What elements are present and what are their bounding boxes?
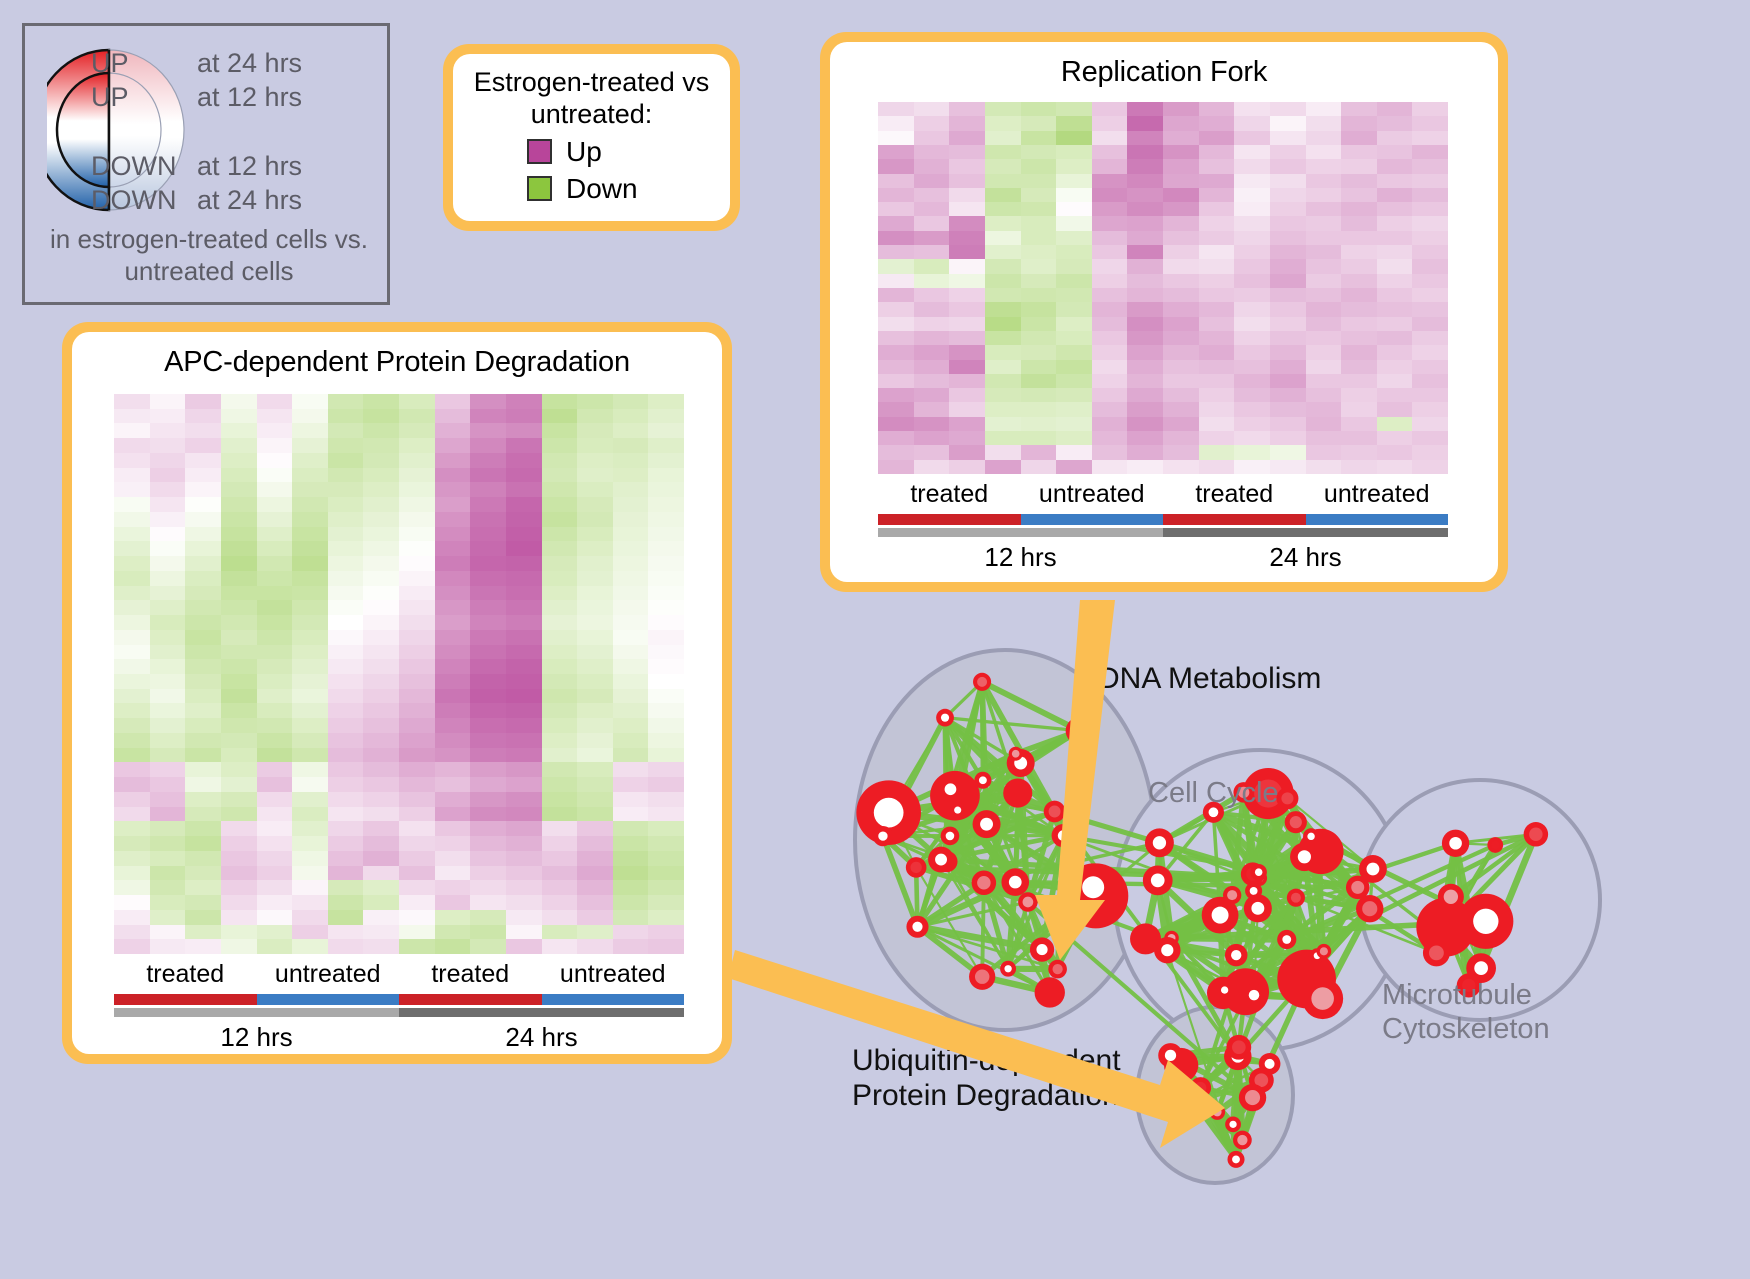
- heatmap-cell: [470, 615, 506, 630]
- heatmap-cell: [506, 733, 542, 748]
- heatmap-cell: [1163, 331, 1199, 345]
- heatmap-cell: [1021, 288, 1057, 302]
- key-row-up: Up: [527, 136, 730, 168]
- heatmap-cell: [399, 777, 435, 792]
- cluster-label-cell-cycle: Cell Cycle: [1148, 777, 1279, 810]
- heatmap-cell: [506, 409, 542, 424]
- heatmap-cell: [1234, 302, 1270, 316]
- heatmap-cell: [1234, 417, 1270, 431]
- heatmap-cell: [1270, 131, 1306, 145]
- heatmap-cell: [949, 460, 985, 474]
- heatmap-cell: [185, 762, 221, 777]
- heatmap-cell: [1056, 274, 1092, 288]
- heatmap-cell: [613, 703, 649, 718]
- heatmap-cell: [1127, 445, 1163, 459]
- heatmap-cell: [221, 939, 257, 954]
- heatmap-cell: [1341, 317, 1377, 331]
- network-node-center: [946, 832, 955, 841]
- heatmap-cell: [613, 821, 649, 836]
- heatmap-cell: [328, 880, 364, 895]
- heatmap-cell: [328, 807, 364, 822]
- heatmap-cell: [1127, 302, 1163, 316]
- heatmap-cell: [542, 468, 578, 483]
- heatmap-cell: [613, 939, 649, 954]
- heatmap-cell: [257, 895, 293, 910]
- heatmap-cell: [435, 645, 471, 660]
- heatmap-cell: [1163, 174, 1199, 188]
- heatmap-cell: [878, 231, 914, 245]
- heatmap-cell: [577, 807, 613, 822]
- heatmap-cell: [613, 689, 649, 704]
- heatmap-cell: [1021, 460, 1057, 474]
- heatmap-cell: [613, 556, 649, 571]
- heatmap-cell: [542, 689, 578, 704]
- heatmap-cell: [878, 317, 914, 331]
- heatmap-cell: [435, 807, 471, 822]
- heatmap-cell: [1341, 131, 1377, 145]
- network-node-center: [979, 776, 987, 784]
- heatmap-cell: [328, 571, 364, 586]
- heatmap-cell: [613, 409, 649, 424]
- heatmap-cell: [1163, 202, 1199, 216]
- heatmap-cell: [577, 468, 613, 483]
- heatmap-cell: [150, 615, 186, 630]
- heatmap-cell: [1127, 274, 1163, 288]
- heatmap-cell: [577, 895, 613, 910]
- heatmap-cell: [257, 409, 293, 424]
- heatmap-cell: [185, 394, 221, 409]
- heatmap-cell: [613, 541, 649, 556]
- heatmap-cell: [399, 586, 435, 601]
- network-node-center: [1245, 1090, 1260, 1105]
- heatmap-cell: [985, 388, 1021, 402]
- heatmap-cell: [114, 630, 150, 645]
- heatmap-cell: [435, 689, 471, 704]
- treatment-color-bar-segment: [1306, 514, 1449, 525]
- heatmap-cell: [221, 497, 257, 512]
- heatmap-cell: [985, 188, 1021, 202]
- heatmap-cell: [1377, 317, 1413, 331]
- heatmap-cell: [470, 939, 506, 954]
- heatmap-cell: [577, 482, 613, 497]
- heatmap-cell: [1341, 102, 1377, 116]
- heatmap-cell: [185, 556, 221, 571]
- heatmap-cell: [949, 417, 985, 431]
- heatmap-cell: [150, 438, 186, 453]
- heatmap-cell: [399, 807, 435, 822]
- heatmap-cell: [542, 586, 578, 601]
- heatmap-cell: [1306, 331, 1342, 345]
- heatmap-cell: [1163, 116, 1199, 130]
- heatmap-cell: [506, 600, 542, 615]
- heatmap-cell: [150, 792, 186, 807]
- heatmap-cell: [328, 777, 364, 792]
- heatmap-cell: [1412, 131, 1448, 145]
- heatmap-cell: [878, 445, 914, 459]
- heatmap-cell: [114, 615, 150, 630]
- heatmap-cell: [506, 630, 542, 645]
- heatmap-cell: [363, 571, 399, 586]
- network-node-center: [1351, 881, 1364, 894]
- heatmap-cell: [221, 571, 257, 586]
- heatmap-cell: [470, 925, 506, 940]
- heatmap-cell: [1021, 174, 1057, 188]
- heatmap-cell: [1341, 259, 1377, 273]
- heatmap-cell: [914, 131, 950, 145]
- heatmap-cell: [1163, 360, 1199, 374]
- heatmap-cell: [221, 733, 257, 748]
- network-node-center: [912, 922, 922, 932]
- heatmap-cell: [1021, 402, 1057, 416]
- heatmap-cell: [257, 689, 293, 704]
- heatmap-cell: [150, 645, 186, 660]
- apc-degradation-panel: APC-dependent Protein Degradation treate…: [62, 322, 732, 1064]
- network-node-center: [1213, 1108, 1222, 1117]
- heatmap-cell: [542, 851, 578, 866]
- heatmap-cell: [648, 394, 684, 409]
- heatmap-cell: [613, 497, 649, 512]
- heatmap-cell: [114, 689, 150, 704]
- heatmap-cell: [914, 431, 950, 445]
- network-node-center: [1250, 887, 1258, 895]
- heatmap-cell: [1199, 145, 1235, 159]
- network-node-center: [878, 831, 887, 840]
- heatmap-cell: [257, 836, 293, 851]
- heatmap-cell: [1021, 445, 1057, 459]
- heatmap-cell: [577, 689, 613, 704]
- heatmap-cell: [949, 360, 985, 374]
- heatmap-cell: [470, 394, 506, 409]
- heatmap-cell: [1234, 388, 1270, 402]
- heatmap-cell: [150, 527, 186, 542]
- heatmap-cell: [1377, 360, 1413, 374]
- heatmap-cell: [114, 409, 150, 424]
- heatmap-cell: [1127, 216, 1163, 230]
- heatmap-cell: [1377, 388, 1413, 402]
- heatmap-cell: [1412, 402, 1448, 416]
- time-label: 12 hrs: [114, 1022, 399, 1053]
- column-group-label: treated: [878, 480, 1021, 509]
- heatmap-cell: [257, 792, 293, 807]
- heatmap-cell: [1021, 231, 1057, 245]
- heatmap-cell: [1092, 259, 1128, 273]
- heatmap-cell: [1412, 317, 1448, 331]
- heatmap-cell: [1127, 388, 1163, 402]
- heatmap-cell: [1199, 245, 1235, 259]
- heatmap-cell: [257, 733, 293, 748]
- heatmap-cell: [114, 586, 150, 601]
- heatmap-cell: [1270, 345, 1306, 359]
- heatmap-cell: [257, 851, 293, 866]
- heatmap-cell: [1234, 431, 1270, 445]
- heatmap-cell: [435, 438, 471, 453]
- heatmap-cell: [221, 895, 257, 910]
- heatmap-cell: [648, 482, 684, 497]
- heatmap-cell: [1163, 188, 1199, 202]
- heatmap-cell: [435, 718, 471, 733]
- heatmap-cell: [949, 445, 985, 459]
- network-node-center: [1227, 890, 1237, 900]
- heatmap-cell: [1412, 445, 1448, 459]
- heatmap-cell: [435, 453, 471, 468]
- heatmap-cell: [257, 630, 293, 645]
- heatmap-cell: [542, 880, 578, 895]
- heatmap-cell: [985, 317, 1021, 331]
- network-node-center: [1049, 806, 1061, 818]
- heatmap-cell: [185, 615, 221, 630]
- heatmap-cell: [1163, 274, 1199, 288]
- heatmap-cell: [1341, 231, 1377, 245]
- heatmap-cell: [470, 527, 506, 542]
- heatmap-cell: [363, 645, 399, 660]
- heatmap-cell: [613, 733, 649, 748]
- heatmap-cell: [1234, 317, 1270, 331]
- heatmap-cell: [150, 409, 186, 424]
- heatmap-cell: [1127, 245, 1163, 259]
- heatmap-cell: [613, 527, 649, 542]
- network-node[interactable]: [1003, 779, 1032, 808]
- heatmap-cell: [185, 821, 221, 836]
- network-node[interactable]: [1035, 977, 1065, 1007]
- heatmap-cell: [1270, 317, 1306, 331]
- heatmap-cell: [114, 851, 150, 866]
- heatmap-cell: [221, 527, 257, 542]
- heatmap-cell: [470, 777, 506, 792]
- heatmap-cell: [1056, 145, 1092, 159]
- heatmap-cell: [577, 630, 613, 645]
- network-node-center: [1473, 909, 1498, 934]
- heatmap-cell: [435, 821, 471, 836]
- heatmap-cell: [114, 807, 150, 822]
- heatmap-cell: [257, 880, 293, 895]
- network-node-center: [1232, 1040, 1246, 1054]
- heatmap-cell: [435, 836, 471, 851]
- heatmap-cell: [399, 689, 435, 704]
- heatmap-cell: [1092, 159, 1128, 173]
- heatmap-cell: [328, 556, 364, 571]
- heatmap-cell: [185, 925, 221, 940]
- heatmap-cell: [1021, 388, 1057, 402]
- heatmap-cell: [363, 438, 399, 453]
- heatmap-cell: [1092, 431, 1128, 445]
- heatmap-cell: [1234, 374, 1270, 388]
- network-node-center: [1229, 1121, 1236, 1128]
- heatmap-cell: [257, 527, 293, 542]
- heatmap-cell: [914, 102, 950, 116]
- heatmap-cell: [185, 910, 221, 925]
- heatmap-cell: [1306, 245, 1342, 259]
- heatmap-cell: [1021, 431, 1057, 445]
- heatmap-cell: [185, 645, 221, 660]
- heatmap-cell: [613, 925, 649, 940]
- replication-fork-heatmap: [878, 102, 1448, 474]
- heatmap-cell: [648, 571, 684, 586]
- heatmap-cell: [914, 245, 950, 259]
- heatmap-cell: [399, 792, 435, 807]
- heatmap-cell: [185, 836, 221, 851]
- heatmap-cell: [1341, 331, 1377, 345]
- heatmap-cell: [648, 718, 684, 733]
- heatmap-cell: [542, 777, 578, 792]
- heatmap-cell: [542, 615, 578, 630]
- heatmap-cell: [914, 202, 950, 216]
- heatmap-cell: [470, 645, 506, 660]
- heatmap-cell: [435, 409, 471, 424]
- heatmap-cell: [1234, 360, 1270, 374]
- heatmap-cell: [292, 394, 328, 409]
- heatmap-cell: [985, 345, 1021, 359]
- heatmap-cell: [648, 615, 684, 630]
- heatmap-cell: [435, 600, 471, 615]
- heatmap-cell: [257, 777, 293, 792]
- heatmap-cell: [1199, 445, 1235, 459]
- heatmap-cell: [399, 762, 435, 777]
- heatmap-cell: [1199, 102, 1235, 116]
- heatmap-cell: [577, 512, 613, 527]
- heatmap-cell: [1270, 145, 1306, 159]
- pathway-network-diagram: DNA Metabolism Cell Cycle Microtubule Cy…: [790, 600, 1750, 1279]
- heatmap-cell: [1021, 331, 1057, 345]
- heatmap-cell: [257, 541, 293, 556]
- heatmap-cell: [1199, 188, 1235, 202]
- heatmap-cell: [150, 718, 186, 733]
- heatmap-cell: [185, 703, 221, 718]
- heatmap-cell: [1412, 460, 1448, 474]
- heatmap-cell: [914, 402, 950, 416]
- heatmap-cell: [542, 674, 578, 689]
- heatmap-cell: [257, 571, 293, 586]
- heatmap-cell: [506, 571, 542, 586]
- heatmap-cell: [542, 630, 578, 645]
- heatmap-cell: [185, 748, 221, 763]
- heatmap-cell: [1056, 259, 1092, 273]
- heatmap-cell: [506, 527, 542, 542]
- key-card-title: Estrogen-treated vs untreated:: [453, 54, 730, 131]
- heatmap-cell: [506, 659, 542, 674]
- heatmap-cell: [1021, 360, 1057, 374]
- heatmap-cell: [399, 556, 435, 571]
- heatmap-cell: [399, 748, 435, 763]
- heatmap-cell: [1199, 116, 1235, 130]
- heatmap-cell: [1163, 302, 1199, 316]
- heatmap-cell: [542, 645, 578, 660]
- heatmap-cell: [648, 438, 684, 453]
- replication-fork-time-bar: [878, 528, 1448, 537]
- heatmap-cell: [542, 821, 578, 836]
- heatmap-cell: [506, 836, 542, 851]
- heatmap-cell: [150, 939, 186, 954]
- heatmap-cell: [1412, 116, 1448, 130]
- heatmap-cell: [399, 659, 435, 674]
- heatmap-cell: [542, 482, 578, 497]
- heatmap-cell: [185, 895, 221, 910]
- network-node-center: [1282, 935, 1291, 944]
- heatmap-cell: [150, 821, 186, 836]
- network-node-center: [1298, 850, 1311, 863]
- network-node-center: [941, 714, 949, 722]
- heatmap-cell: [1127, 102, 1163, 116]
- heatmap-cell: [470, 807, 506, 822]
- updown-key-card: Estrogen-treated vs untreated: Up Down: [443, 44, 740, 231]
- heatmap-cell: [506, 718, 542, 733]
- heatmap-cell: [949, 431, 985, 445]
- heatmap-cell: [613, 718, 649, 733]
- heatmap-cell: [1412, 216, 1448, 230]
- heatmap-cell: [1270, 202, 1306, 216]
- heatmap-cell: [292, 762, 328, 777]
- heatmap-cell: [914, 216, 950, 230]
- heatmap-cell: [221, 468, 257, 483]
- heatmap-cell: [1056, 245, 1092, 259]
- network-node-center: [1237, 1135, 1247, 1145]
- heatmap-cell: [914, 259, 950, 273]
- heatmap-cell: [577, 615, 613, 630]
- heatmap-cell: [114, 482, 150, 497]
- heatmap-cell: [506, 866, 542, 881]
- heatmap-cell: [328, 438, 364, 453]
- heatmap-cell: [985, 102, 1021, 116]
- heatmap-cell: [114, 394, 150, 409]
- heatmap-cell: [1127, 174, 1163, 188]
- heatmap-cell: [363, 674, 399, 689]
- heatmap-cell: [1234, 102, 1270, 116]
- heatmap-cell: [1199, 374, 1235, 388]
- network-node-center: [1190, 1098, 1197, 1105]
- heatmap-cell: [878, 174, 914, 188]
- heatmap-cell: [648, 807, 684, 822]
- replication-fork-panel: Replication Fork treateduntreatedtreated…: [820, 32, 1508, 592]
- heatmap-cell: [1127, 345, 1163, 359]
- heatmap-cell: [114, 674, 150, 689]
- heatmap-cell: [1377, 374, 1413, 388]
- heatmap-cell: [221, 645, 257, 660]
- heatmap-cell: [1163, 460, 1199, 474]
- heatmap-cell: [399, 939, 435, 954]
- heatmap-cell: [435, 851, 471, 866]
- heatmap-cell: [542, 836, 578, 851]
- heatmap-cell: [1306, 431, 1342, 445]
- heatmap-cell: [470, 689, 506, 704]
- heatmap-cell: [292, 748, 328, 763]
- heatmap-cell: [363, 703, 399, 718]
- heatmap-cell: [1092, 288, 1128, 302]
- heatmap-cell: [1199, 288, 1235, 302]
- heatmap-cell: [1377, 102, 1413, 116]
- treatment-color-bar-segment: [114, 994, 257, 1005]
- time-color-bar-segment: [399, 1008, 684, 1017]
- heatmap-cell: [257, 939, 293, 954]
- heatmap-cell: [435, 880, 471, 895]
- apc-time-labels: 12 hrs24 hrs: [114, 1022, 684, 1053]
- heatmap-cell: [985, 245, 1021, 259]
- heatmap-cell: [1056, 188, 1092, 202]
- heatmap-cell: [185, 866, 221, 881]
- heatmap-cell: [1056, 288, 1092, 302]
- heatmap-cell: [470, 821, 506, 836]
- heatmap-cell: [221, 807, 257, 822]
- heatmap-cell: [1412, 417, 1448, 431]
- network-node-center: [1429, 945, 1444, 960]
- heatmap-cell: [363, 409, 399, 424]
- heatmap-cell: [949, 131, 985, 145]
- heatmap-cell: [292, 571, 328, 586]
- heatmap-cell: [399, 821, 435, 836]
- heatmap-cell: [292, 851, 328, 866]
- heatmap-cell: [470, 600, 506, 615]
- heatmap-cell: [435, 541, 471, 556]
- heatmap-cell: [292, 703, 328, 718]
- heatmap-cell: [150, 703, 186, 718]
